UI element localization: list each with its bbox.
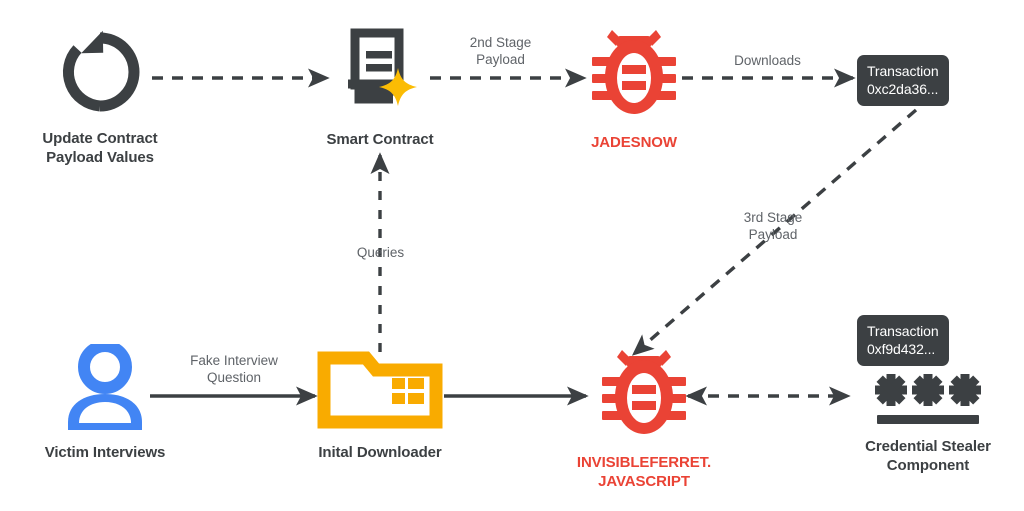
- chip-transaction-top[interactable]: Transaction 0xc2da36...: [857, 55, 949, 106]
- node-smart-contract: Smart Contract: [302, 27, 458, 150]
- node-initial-downloader: Inital Downloader: [302, 350, 458, 463]
- edge-label-downloads: Downloads: [700, 52, 835, 69]
- edge-label-fake-interview-question: Fake Interview Question: [167, 352, 301, 387]
- node-label-credential-stealer: Credential Stealer Component: [865, 438, 991, 476]
- edge-label-3rd-stage-payload: 3rd Stage Payload: [714, 209, 832, 244]
- chip-transaction-bottom[interactable]: Transaction 0xf9d432...: [857, 315, 949, 366]
- smart-contract-document-icon: [335, 27, 425, 122]
- node-victim-interviews: Victim Interviews: [30, 344, 180, 463]
- refresh-circle-icon: [56, 28, 144, 121]
- node-credential-stealer: Credential Stealer Component: [845, 370, 1011, 476]
- node-label-victim-interviews: Victim Interviews: [45, 444, 166, 463]
- node-label-update-contract: Update Contract Payload Values: [42, 130, 157, 168]
- node-label-jadesnow: JADESNOW: [591, 134, 677, 153]
- edge-label-queries: Queries: [328, 244, 433, 261]
- attack-chain-diagram: 2nd Stage Payload Downloads 3rd Stage Pa…: [0, 0, 1024, 511]
- folder-code-icon: [316, 350, 444, 435]
- node-label-invisibleferret: INVISIBLEFERRET. JAVASCRIPT: [577, 454, 711, 492]
- edge-label-2nd-stage-payload: 2nd Stage Payload: [443, 34, 558, 69]
- bug-icon: [588, 24, 680, 125]
- node-jadesnow: JADESNOW: [572, 24, 696, 153]
- bug-icon: [598, 344, 690, 445]
- password-asterisks-icon: [869, 370, 987, 429]
- person-icon: [63, 344, 147, 435]
- node-label-smart-contract: Smart Contract: [327, 131, 434, 150]
- node-update-contract: Update Contract Payload Values: [24, 28, 176, 168]
- node-invisibleferret: INVISIBLEFERRET. JAVASCRIPT: [572, 344, 716, 492]
- node-label-initial-downloader: Inital Downloader: [318, 444, 441, 463]
